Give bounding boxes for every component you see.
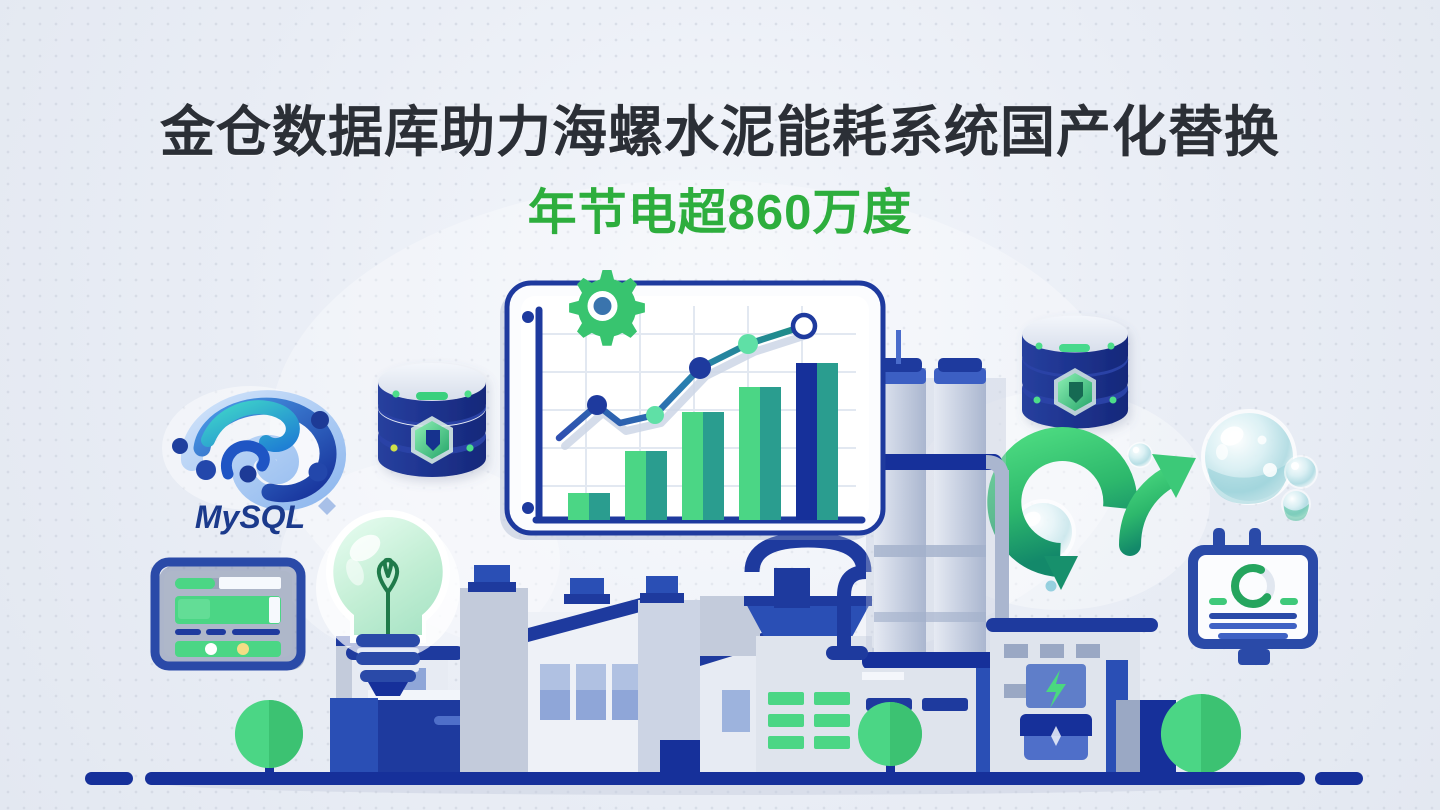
gear-icon [569, 270, 645, 346]
ground-dash-right [1315, 772, 1363, 785]
progress-fill [175, 578, 215, 589]
electrical-substation [986, 618, 1176, 778]
illustration-canvas: 金仓数据库助力海螺水泥能耗系统国产化替换 年节电超860万度 [0, 0, 1440, 810]
ground-line [85, 772, 1363, 785]
hmi-control-panel[interactable] [155, 562, 305, 670]
chart-point [646, 406, 664, 424]
ground-bar [145, 772, 1305, 785]
title-block: 金仓数据库助力海螺水泥能耗系统国产化替换 年节电超860万度 [0, 100, 1440, 244]
page-title: 金仓数据库助力海螺水泥能耗系统国产化替换 [0, 100, 1440, 165]
page-subtitle: 年节电超860万度 [0, 173, 1440, 244]
status-light-white [205, 643, 217, 655]
analytics-tablet[interactable] [500, 270, 883, 540]
tree-left [235, 700, 303, 778]
ground-dash-left [85, 772, 133, 785]
mysql-wordmark: MySQL [195, 499, 305, 535]
chart-point [587, 395, 607, 415]
chart-point [738, 334, 758, 354]
chart-point [689, 357, 711, 379]
db-right-icon [1022, 316, 1128, 429]
db-left-icon [378, 363, 486, 477]
chart-point [793, 315, 815, 337]
status-light-amber [237, 643, 249, 655]
energy-gauge-monitor[interactable] [1188, 528, 1318, 665]
